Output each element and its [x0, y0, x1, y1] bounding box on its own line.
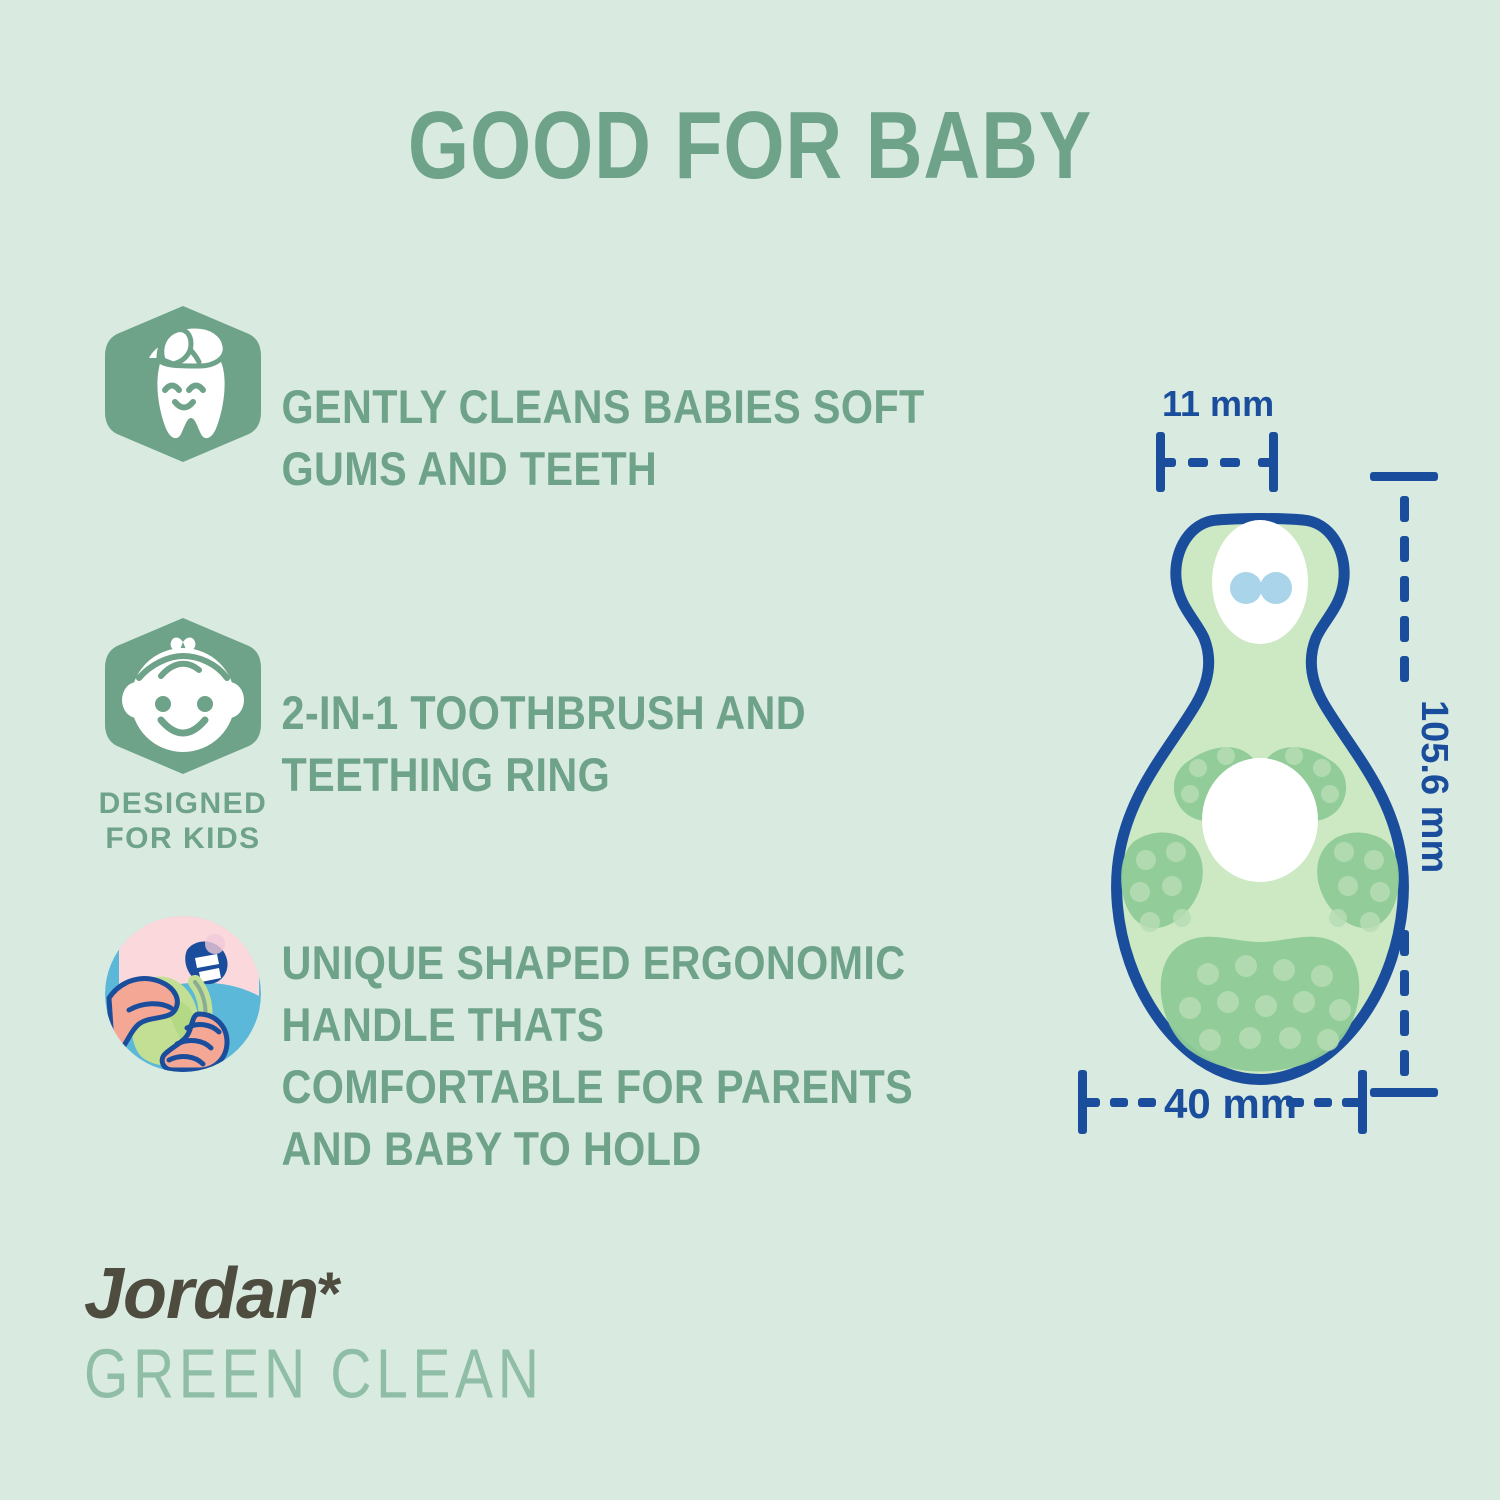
product-body: [1117, 519, 1404, 1080]
bristle-dot: [1230, 572, 1262, 604]
teething-hole: [1202, 758, 1318, 882]
page-title: GOOD FOR BABY: [135, 96, 1365, 197]
tooth-leaf-hexagon-icon: [99, 300, 267, 468]
feature-item-ergonomic-handle: UNIQUE SHAPED ERGONOMIC HANDLE THATS COM…: [88, 910, 1068, 1180]
baby-face-hexagon-icon: [99, 612, 267, 780]
feature-text: 2-IN-1 TOOTHBRUSH AND TEETHING RING: [278, 682, 973, 806]
feature-icon-slot: [88, 300, 278, 474]
dimension-width-top: 11 mm: [1156, 383, 1278, 492]
product-diagram: 11 mm: [1040, 370, 1480, 1170]
feature-item-2-in-1: DESIGNED FOR KIDS 2-IN-1 TOOTHBRUSH AND …: [88, 612, 1068, 857]
hands-holding-brush-circle-icon: [99, 910, 267, 1078]
product-diagram-svg: 11 mm: [1040, 370, 1480, 1170]
brand-name-text: Jordan: [84, 1254, 318, 1334]
dimension-label-width-bottom: 40 mm: [1164, 1080, 1297, 1127]
feature-icon-caption: DESIGNED FOR KIDS: [99, 786, 268, 857]
bristle-dot: [1260, 572, 1292, 604]
feature-icon-slot: DESIGNED FOR KIDS: [88, 612, 278, 857]
dimension-label-width-top: 11 mm: [1162, 383, 1274, 424]
dimension-label-height: 105.6 mm: [1413, 700, 1455, 873]
dimension-width-bottom: 40 mm: [1078, 1070, 1367, 1134]
infographic-page: GOOD FOR BABY GENTLY CLEA: [0, 0, 1500, 1500]
brand-tagline: GREEN CLEAN: [84, 1340, 543, 1409]
brand-asterisk: *: [318, 1260, 341, 1327]
feature-item-gentle-clean: GENTLY CLEANS BABIES SOFT GUMS AND TEETH: [88, 300, 1068, 500]
feature-text: UNIQUE SHAPED ERGONOMIC HANDLE THATS COM…: [278, 932, 973, 1180]
dimension-height: 105.6 mm: [1370, 472, 1455, 1097]
brand-logo: Jordan* GREEN CLEAN: [84, 1258, 583, 1406]
feature-text: GENTLY CLEANS BABIES SOFT GUMS AND TEETH: [278, 376, 973, 500]
feature-icon-slot: [88, 910, 278, 1084]
brand-name: Jordan*: [84, 1258, 583, 1330]
